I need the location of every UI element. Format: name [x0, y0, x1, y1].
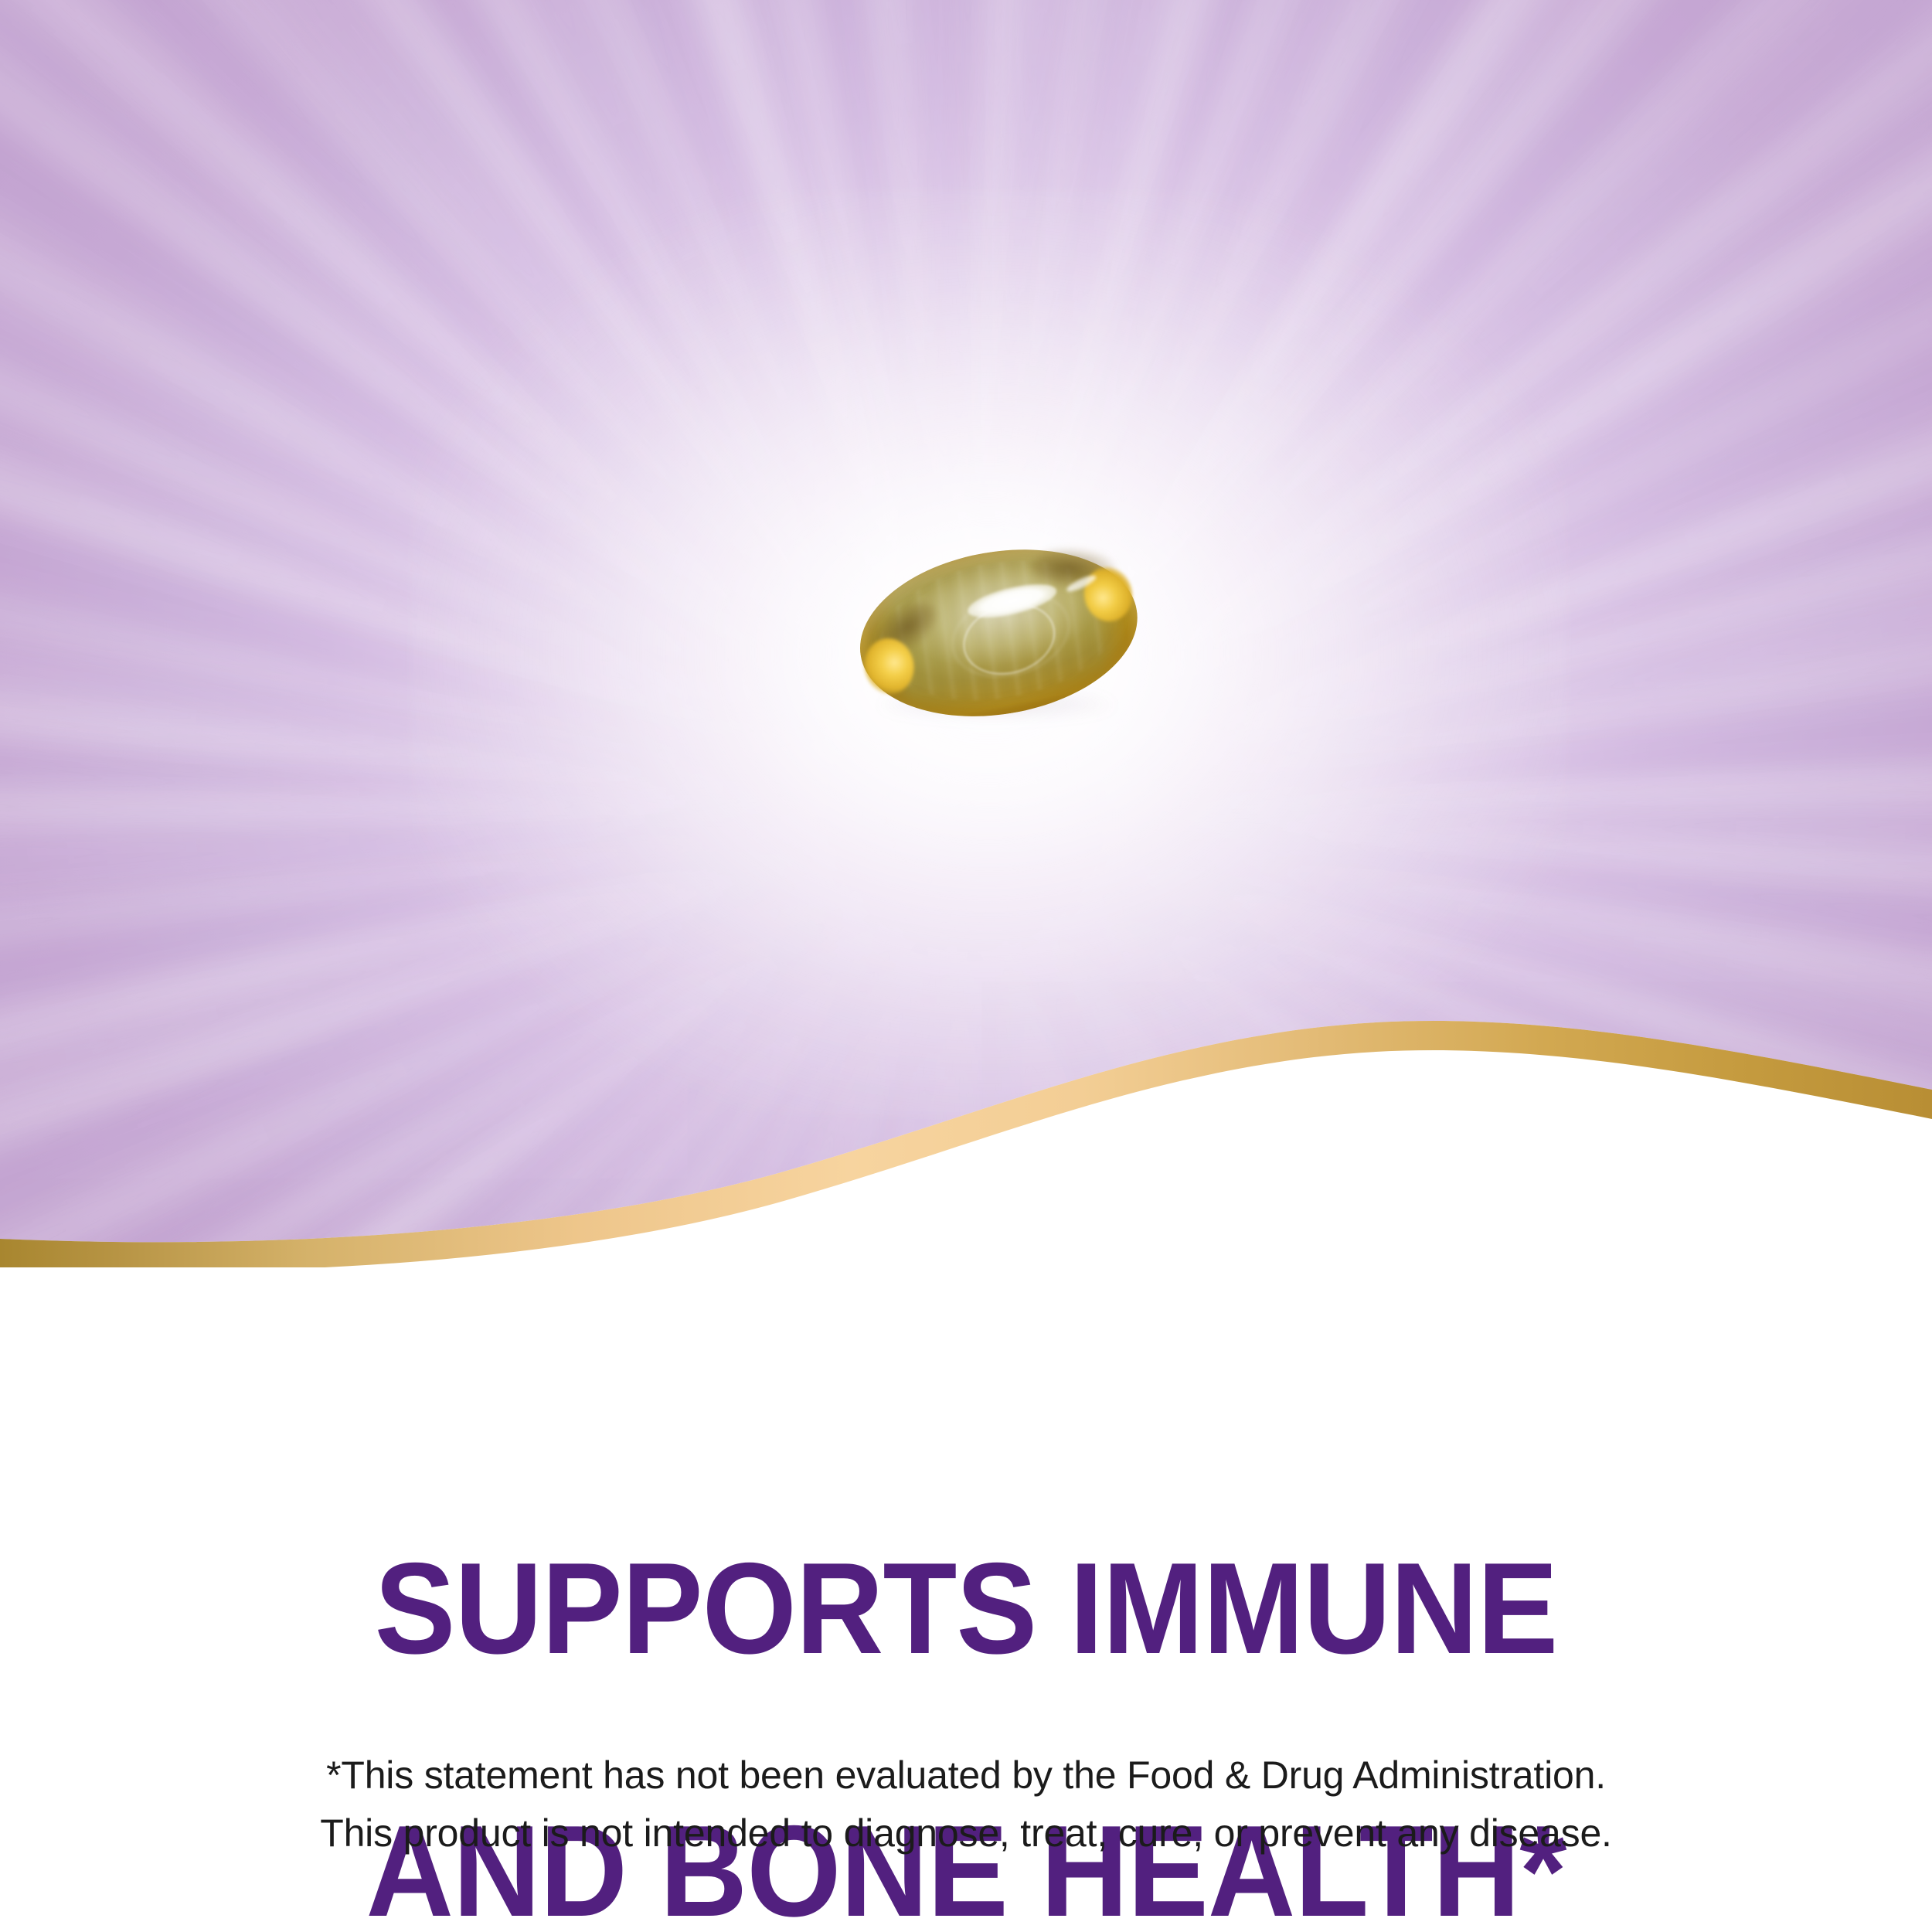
- headline-line-1: SUPPORTS IMMUNE: [63, 1543, 1869, 1674]
- disclaimer-line-1: *This statement has not been evaluated b…: [0, 1747, 1932, 1804]
- bottom-panel: SUPPORTS IMMUNE AND BONE HEALTH* *This s…: [0, 1267, 1932, 1932]
- hero-panel: [0, 0, 1932, 1267]
- disclaimer-line-2: This product is not intended to diagnose…: [0, 1804, 1932, 1862]
- softgel-capsule: [859, 546, 1139, 726]
- capsule-rotation-group: [846, 524, 1152, 749]
- product-marketing-panel: SUPPORTS IMMUNE AND BONE HEALTH* *This s…: [0, 0, 1932, 1932]
- fda-disclaimer: *This statement has not been evaluated b…: [0, 1747, 1932, 1862]
